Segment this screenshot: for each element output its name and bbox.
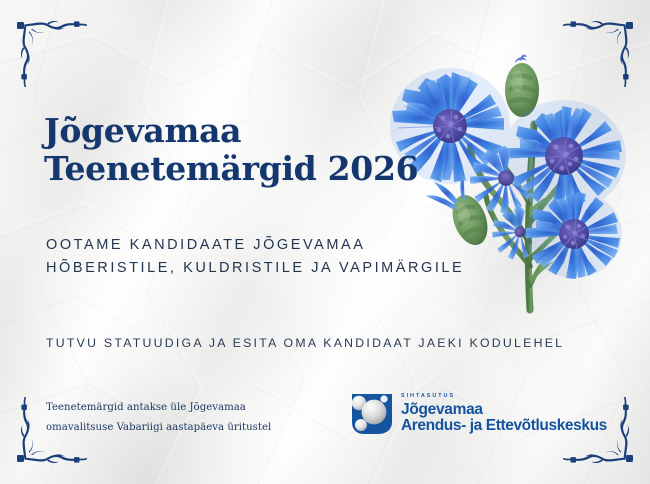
logo-wordmark: SIHTASUTUS Jõgevamaa Arendus- ja Ettevõt… [401, 394, 607, 433]
poster: Jõgevamaa Teenetemärgid 2026 OOTAME KAND… [0, 0, 650, 484]
logo-line-1: Jõgevamaa [401, 402, 607, 418]
organization-logo[interactable]: SIHTASUTUS Jõgevamaa Arendus- ja Ettevõt… [350, 392, 607, 436]
logo-line-2: Arendus- ja Ettevõtluskeskus [401, 418, 607, 434]
logo-kicker: SIHTASUTUS [401, 394, 607, 399]
poster-subtitle: OOTAME KANDIDAATE JÕGEVAMAA HÕBERISTILE,… [46, 234, 464, 281]
logo-bubbles-icon [350, 392, 394, 436]
poster-footnote: Teenetemärgid antakse üle Jõgevamaa omav… [46, 398, 314, 439]
page-title: Jõgevamaa Teenetemärgid 2026 [44, 112, 418, 189]
call-to-action-text: TUTVU STATUUDIGA JA ESITA OMA KANDIDAAT … [46, 336, 564, 350]
